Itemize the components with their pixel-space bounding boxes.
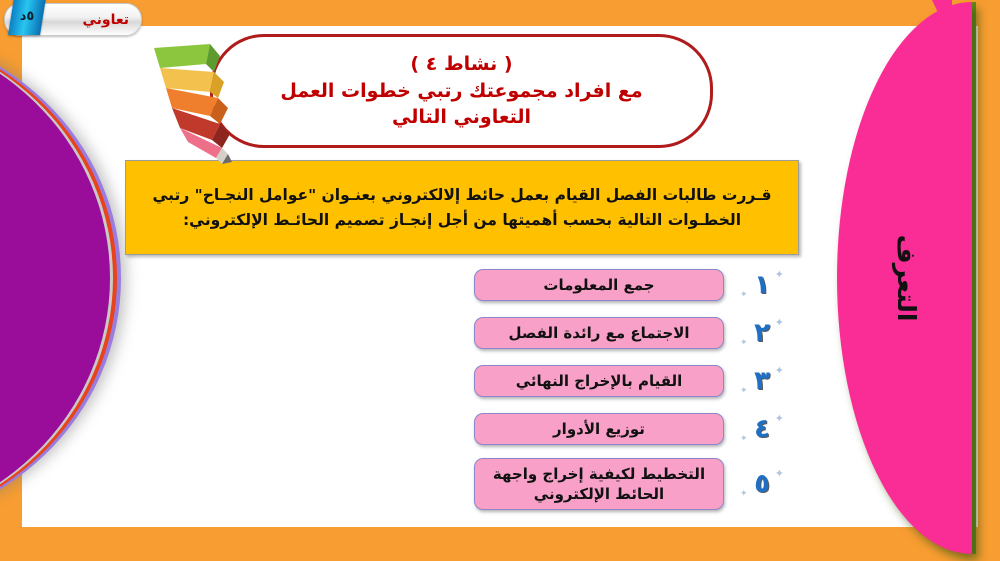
sparkle-icon: ✦ bbox=[775, 268, 784, 281]
sparkle-icon: ✦ bbox=[775, 467, 784, 480]
list-item[interactable]: ✦ ✦ ٣ القيام بالإخراج النهائي bbox=[400, 362, 800, 400]
steps-list: ✦ ✦ ١ جمع المعلومات ✦ ✦ ٢ الاجتماع مع را… bbox=[400, 266, 800, 520]
sparkle-icon: ✦ bbox=[740, 386, 748, 396]
step-label: الاجتماع مع رائدة الفصل bbox=[508, 323, 689, 343]
list-item[interactable]: ✦ ✦ ١ جمع المعلومات bbox=[400, 266, 800, 304]
duration-label: ٥د bbox=[11, 0, 43, 35]
step-number-wrap: ✦ ✦ ٢ bbox=[724, 318, 800, 348]
sparkle-icon: ✦ bbox=[740, 434, 748, 444]
instruction-text: قـررت طالبات الفصل القيام بعمل حائط إلال… bbox=[126, 183, 798, 231]
sparkle-icon: ✦ bbox=[740, 290, 748, 300]
activity-title-bubble: ( نشاط ٤ ) مع افراد مجموعتك رتبي خطوات ا… bbox=[210, 34, 713, 148]
sparkle-icon: ✦ bbox=[740, 489, 748, 499]
step-box[interactable]: القيام بالإخراج النهائي bbox=[474, 365, 724, 397]
list-item[interactable]: ✦ ✦ ٢ الاجتماع مع رائدة الفصل bbox=[400, 314, 800, 352]
step-number: ٥ bbox=[754, 469, 770, 499]
step-box[interactable]: توزيع الأدوار bbox=[474, 413, 724, 445]
step-label: جمع المعلومات bbox=[543, 275, 654, 295]
frame-border-bottom bbox=[0, 527, 1000, 561]
activity-title-line2: مع افراد مجموعتك رتبي خطوات العمل التعاو… bbox=[239, 78, 684, 132]
sparkle-icon: ✦ bbox=[740, 338, 748, 348]
step-number-wrap: ✦ ✦ ٥ bbox=[724, 469, 800, 499]
instruction-box: قـررت طالبات الفصل القيام بعمل حائط إلال… bbox=[125, 160, 799, 255]
step-number-wrap: ✦ ✦ ٣ bbox=[724, 366, 800, 396]
step-number-wrap: ✦ ✦ ٤ bbox=[724, 414, 800, 444]
sparkle-icon: ✦ bbox=[775, 412, 784, 425]
frame-border-right bbox=[978, 0, 1000, 561]
step-label: القيام بالإخراج النهائي bbox=[516, 371, 683, 391]
step-number: ٢ bbox=[754, 318, 770, 348]
step-number: ١ bbox=[754, 270, 770, 300]
activity-title: ( نشاط ٤ ) مع افراد مجموعتك رتبي خطوات ا… bbox=[213, 51, 710, 132]
step-box[interactable]: الاجتماع مع رائدة الفصل bbox=[474, 317, 724, 349]
activity-type-label: تعاوني bbox=[82, 12, 129, 28]
step-label: التخطيط لكيفية إخراج واجهة الحائط الإلكت… bbox=[481, 464, 717, 505]
list-item[interactable]: ✦ ✦ ٥ التخطيط لكيفية إخراج واجهة الحائط … bbox=[400, 458, 800, 510]
frame-border-top bbox=[0, 0, 1000, 26]
pink-corner-triangle bbox=[932, 0, 952, 42]
slide-canvas: التعرف تعاوني ٥د ( نشاط ٤ ) مع افراد مجم… bbox=[0, 0, 1000, 561]
step-label: توزيع الأدوار bbox=[553, 419, 645, 439]
step-number-wrap: ✦ ✦ ١ bbox=[724, 270, 800, 300]
list-item[interactable]: ✦ ✦ ٤ توزيع الأدوار bbox=[400, 410, 800, 448]
ribbon-pencil-icon bbox=[148, 38, 258, 168]
step-box[interactable]: التخطيط لكيفية إخراج واجهة الحائط الإلكت… bbox=[474, 458, 724, 511]
side-tab-label: التعرف bbox=[892, 235, 921, 322]
activity-title-line1: ( نشاط ٤ ) bbox=[239, 51, 684, 78]
sparkle-icon: ✦ bbox=[775, 364, 784, 377]
sparkle-icon: ✦ bbox=[775, 316, 784, 329]
step-number: ٣ bbox=[754, 366, 770, 396]
step-number: ٤ bbox=[754, 414, 770, 444]
step-box[interactable]: جمع المعلومات bbox=[474, 269, 724, 301]
